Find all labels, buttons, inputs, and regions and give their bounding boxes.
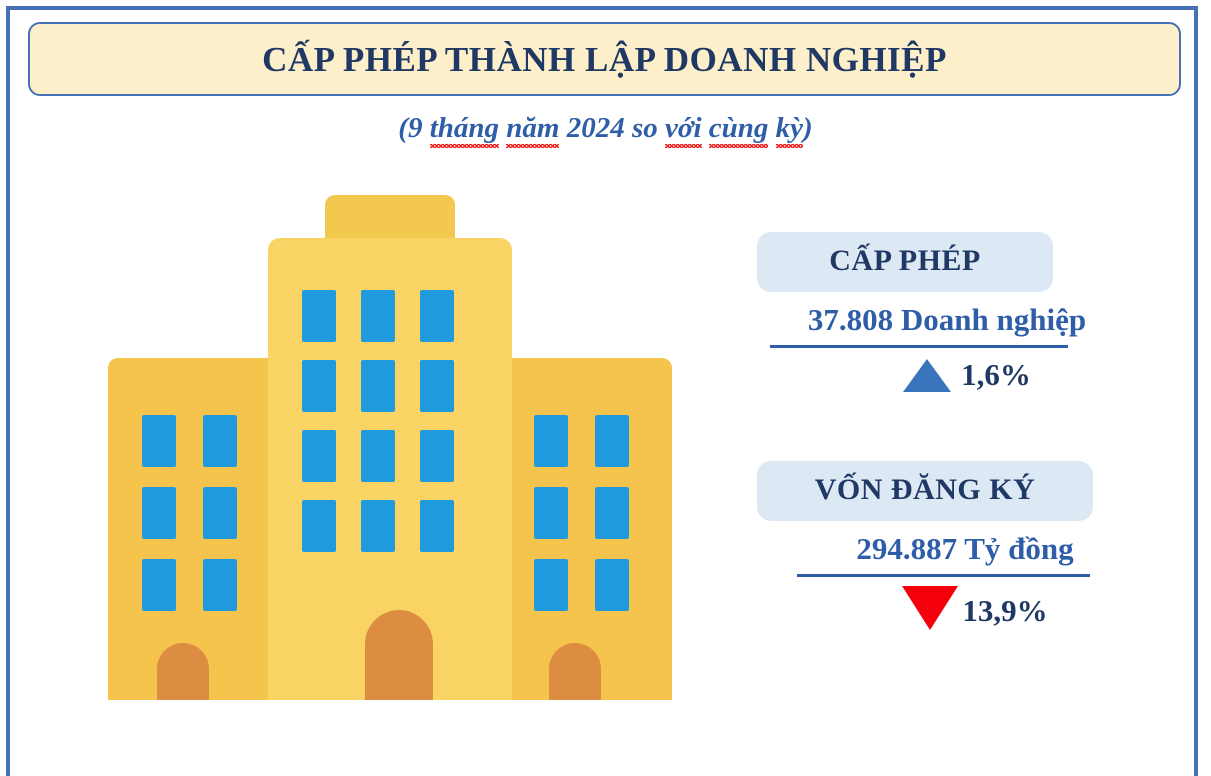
window	[361, 290, 395, 342]
window	[420, 430, 454, 482]
window	[420, 500, 454, 552]
window	[302, 500, 336, 552]
office-building-icon	[100, 190, 680, 700]
stat-delta-value: 1,6%	[961, 357, 1031, 393]
window	[302, 430, 336, 482]
subtitle-middle: 2024 so	[559, 112, 665, 144]
building-left-door	[157, 643, 209, 700]
stat-divider	[797, 574, 1090, 577]
window	[142, 415, 176, 467]
subtitle-word-voi: với	[665, 112, 702, 145]
stat-value: 294.887 Tỷ đồng	[775, 531, 1155, 567]
building-main-door	[365, 610, 433, 700]
window	[534, 559, 568, 611]
window	[302, 290, 336, 342]
subtitle-word-thang: tháng	[430, 112, 499, 145]
window	[420, 360, 454, 412]
infographic-root: CẤP PHÉP THÀNH LẬP DOANH NGHIỆP (9 tháng…	[0, 0, 1211, 763]
subtitle: (9 tháng năm 2024 so với cùng kỳ)	[0, 112, 1211, 145]
subtitle-word-ky: kỳ	[776, 112, 803, 145]
window	[361, 500, 395, 552]
subtitle-close: )	[803, 112, 813, 144]
stat-badge-label: VỐN ĐĂNG KÝ	[757, 461, 1093, 521]
subtitle-word-cung: cùng	[709, 112, 769, 145]
window	[361, 360, 395, 412]
subtitle-space-3	[768, 112, 775, 144]
window	[203, 487, 237, 539]
subtitle-space-1	[499, 112, 506, 144]
stats-panel: CẤP PHÉP 37.808 Doanh nghiệp 1,6% VỐN ĐĂ…	[735, 232, 1155, 636]
stat-delta: 13,9%	[795, 586, 1155, 636]
window	[595, 415, 629, 467]
triangle-up-icon	[903, 359, 951, 392]
window	[534, 415, 568, 467]
stat-divider	[770, 345, 1068, 348]
window	[142, 559, 176, 611]
stat-block-cap-phep: CẤP PHÉP 37.808 Doanh nghiệp 1,6%	[735, 232, 1155, 393]
window	[534, 487, 568, 539]
window	[361, 430, 395, 482]
stat-delta: 1,6%	[779, 357, 1155, 393]
stat-block-von-dang-ky: VỐN ĐĂNG KÝ 294.887 Tỷ đồng 13,9%	[735, 461, 1155, 636]
stat-delta-value: 13,9%	[962, 593, 1047, 629]
title-box: CẤP PHÉP THÀNH LẬP DOANH NGHIỆP	[28, 22, 1181, 96]
window	[203, 415, 237, 467]
subtitle-word-nam: năm	[506, 112, 559, 145]
subtitle-open: (9	[398, 112, 429, 144]
window	[142, 487, 176, 539]
page-title: CẤP PHÉP THÀNH LẬP DOANH NGHIỆP	[262, 42, 947, 77]
stat-value: 37.808 Doanh nghiệp	[739, 302, 1155, 338]
window	[595, 487, 629, 539]
window	[203, 559, 237, 611]
stats-spacer	[735, 393, 1155, 461]
building-right-door	[549, 643, 601, 700]
triangle-down-icon	[902, 586, 958, 630]
subtitle-space-2	[702, 112, 709, 144]
window	[420, 290, 454, 342]
window	[595, 559, 629, 611]
stat-badge-label: CẤP PHÉP	[757, 232, 1053, 292]
window	[302, 360, 336, 412]
